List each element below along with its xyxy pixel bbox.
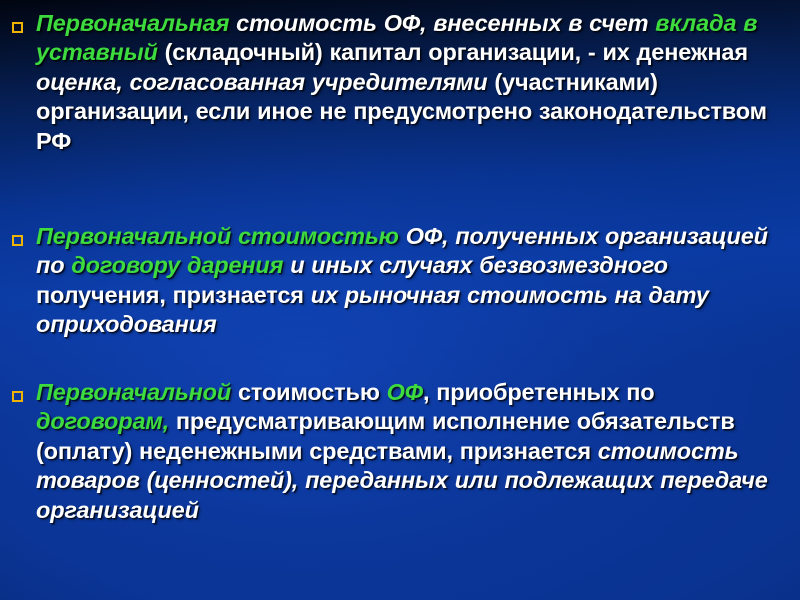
presentation-slide: Первоначальная стоимость ОФ, внесенных в… <box>0 0 800 600</box>
run-emphasis: договорам, <box>36 408 169 434</box>
slide-content: Первоначальная стоимость ОФ, внесенных в… <box>0 0 800 600</box>
run-emphasis: Первоначальной стоимостью <box>36 223 399 249</box>
run-text: стоимость ОФ, внесенных в счет <box>229 10 655 36</box>
bullet-item-3: Первоначальной стоимостью ОФ, приобретен… <box>0 378 800 525</box>
run-text: случаях безвозмездного <box>379 252 668 278</box>
run-emphasis: Первоначальной <box>36 379 231 405</box>
run-emphasis: договору дарения <box>71 252 283 278</box>
square-outline-bullet-icon <box>12 391 23 402</box>
run-text: получения, признается <box>36 282 311 308</box>
run-text: стоимостью <box>231 379 387 405</box>
run-text: (складочный) капитал организации, - их д… <box>158 39 748 65</box>
run-text: и иных <box>283 252 379 278</box>
square-outline-bullet-icon <box>12 235 23 246</box>
run-emphasis: ОФ <box>387 379 423 405</box>
bullet-text-1: Первоначальная стоимость ОФ, внесенных в… <box>36 9 792 156</box>
square-outline-bullet-icon <box>12 22 23 33</box>
run-text: , приобретенных по <box>423 379 655 405</box>
bullet-item-1: Первоначальная стоимость ОФ, внесенных в… <box>0 9 800 156</box>
bullet-item-2: Первоначальной стоимостью ОФ, полученных… <box>0 222 800 340</box>
bullet-text-3: Первоначальной стоимостью ОФ, приобретен… <box>36 378 792 525</box>
run-text: оценка, согласованная учредителями <box>36 69 488 95</box>
run-emphasis: Первоначальная <box>36 10 229 36</box>
bullet-text-2: Первоначальной стоимостью ОФ, полученных… <box>36 222 792 340</box>
